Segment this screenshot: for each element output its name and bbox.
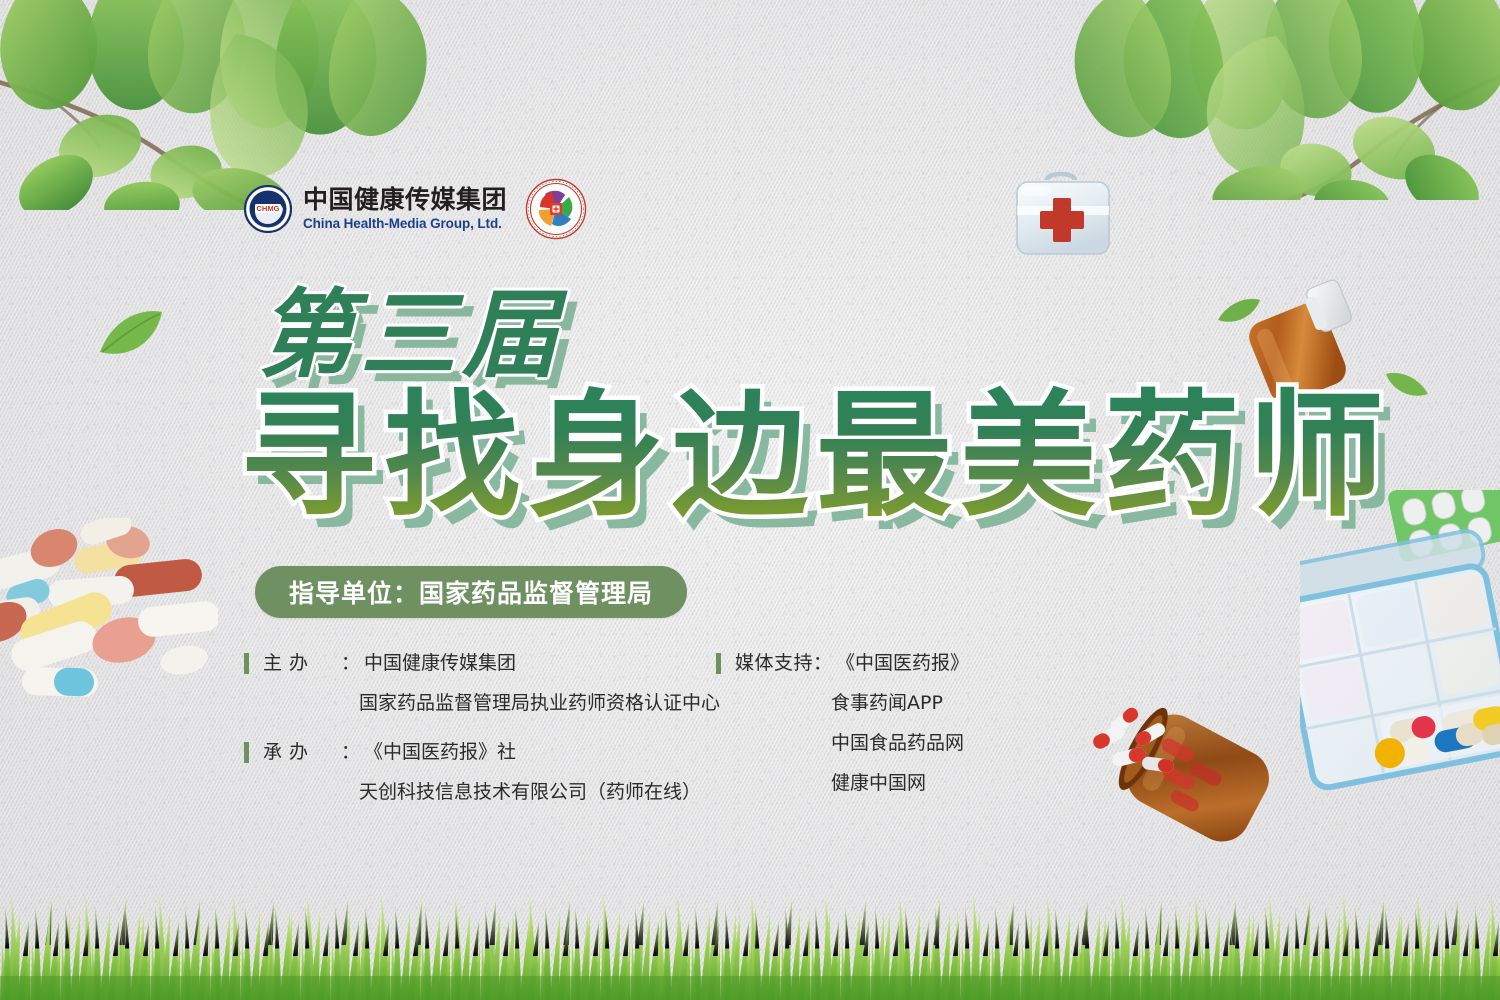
credit-bar-icon [716, 653, 721, 674]
credit-label: 媒体支持 [735, 648, 813, 675]
credit-label: 承 办 [263, 737, 341, 764]
headline-block: 第三届 寻找身边最美药师 寻找身边最美药师 寻找身边最美药师 [240, 288, 1392, 527]
edition-title: 第三届 [258, 288, 1392, 382]
credit-group-coorganizer: 承 办 ： 《中国医药报》社 天创科技信息技术有限公司（药师在线） [244, 737, 720, 804]
chmg-logo[interactable]: CHMG 中国健康传媒集团 China Health-Media Group, … [244, 185, 507, 233]
credit-value: 天创科技信息技术有限公司（药师在线） [359, 777, 701, 804]
chmg-name-cn: 中国健康传媒集团 [303, 187, 507, 212]
credit-label: 主 办 [263, 648, 341, 675]
credit-value: 中国食品药品网 [831, 728, 969, 755]
poster-canvas: CHMG 中国健康传媒集团 China Health-Media Group, … [0, 0, 1500, 1000]
credit-value: 《中国医药报》 [836, 648, 969, 675]
credits-right-column: 媒体支持 ： 《中国医药报》 食事药闻APP 中国食品药品网 健康中国网 [716, 648, 969, 817]
main-title: 寻找身边最美药师 寻找身边最美药师 寻找身边最美药师 [240, 388, 1392, 527]
cpa-circular-emblem-icon[interactable] [525, 178, 587, 240]
credit-bar-icon [244, 653, 249, 674]
main-title-fill: 寻找身边最美药师 [240, 378, 1392, 536]
credit-bar-icon [244, 742, 249, 763]
credits-left-column: 主 办 ： 中国健康传媒集团 国家药品监督管理局执业药师资格认证中心 承 办 ：… [244, 648, 720, 826]
credit-value: 《中国医药报》社 [364, 737, 516, 764]
credit-group-organizer: 主 办 ： 中国健康传媒集团 国家药品监督管理局执业药师资格认证中心 [244, 648, 720, 715]
credit-colon: ： [341, 648, 360, 675]
credit-colon: ： [341, 737, 360, 764]
credit-colon: ： [813, 648, 832, 675]
guidance-unit-badge: 指导单位：国家药品监督管理局 [255, 566, 687, 618]
chmg-seal-icon: CHMG [244, 185, 292, 233]
credit-value: 食事药闻APP [831, 688, 969, 715]
chmg-name-en: China Health-Media Group, Ltd. [303, 217, 507, 231]
credit-value: 国家药品监督管理局执业药师资格认证中心 [359, 688, 720, 715]
credit-value: 中国健康传媒集团 [364, 648, 516, 675]
credit-value: 健康中国网 [831, 768, 969, 795]
credit-group-media-support: 媒体支持 ： 《中国医药报》 食事药闻APP 中国食品药品网 健康中国网 [716, 648, 969, 795]
svg-text:CHMG: CHMG [256, 204, 279, 213]
grass-strip-bottom-icon [0, 890, 1500, 1000]
header-logo-row: CHMG 中国健康传媒集团 China Health-Media Group, … [244, 178, 587, 240]
